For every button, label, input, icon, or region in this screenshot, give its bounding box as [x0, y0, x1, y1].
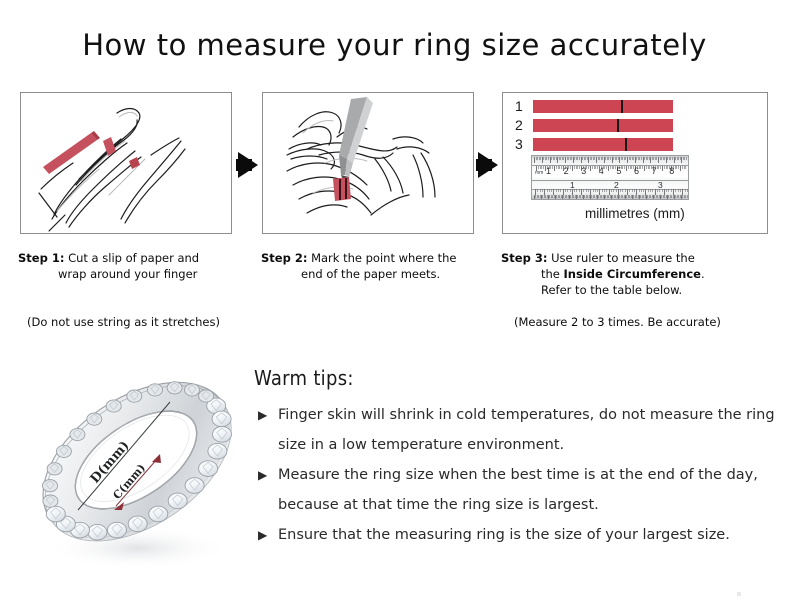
- step3-line2-pre: the: [541, 267, 564, 281]
- step3-line1: Use ruler to measure the: [551, 251, 695, 265]
- bullet-triangle-icon: ▶: [258, 520, 267, 550]
- step1-line2: wrap around your finger: [18, 266, 248, 282]
- ruler-caption: millimetres (mm): [585, 206, 685, 221]
- step2-illustration-panel: [262, 92, 474, 234]
- gemstone: [43, 495, 58, 507]
- gemstone: [88, 524, 107, 540]
- step1-illustration-panel: [20, 92, 232, 234]
- ring-size-guide-page: How to measure your ring size accurately: [0, 0, 789, 606]
- metal-ruler: 12345678 mm 123: [531, 155, 689, 200]
- ring-diagram: D(mm) C(mm): [18, 352, 254, 584]
- ruler-bottom-tick-band: [532, 195, 688, 200]
- ruler-mm-unit-label: mm: [535, 170, 543, 176]
- ruler-cm-number: 7: [652, 167, 657, 176]
- step3-caption: Step 3: Use ruler to measure the the Ins…: [501, 250, 771, 298]
- step3-line2: the Inside Circumference.: [501, 266, 771, 282]
- step2-caption: Step 2: Mark the point where the end of …: [261, 250, 491, 282]
- strip-number-2: 2: [515, 118, 523, 132]
- hand-with-paper-slip-illustration: [21, 93, 231, 233]
- gemstone: [108, 522, 127, 538]
- paper-band-on-finger: [333, 177, 351, 201]
- ruler-cm-number: 6: [634, 167, 639, 176]
- strip-number-1: 1: [515, 99, 523, 113]
- ruler-cm-number: 3: [581, 167, 586, 176]
- step2-label: Step 2:: [261, 251, 307, 265]
- warm-tip-item: ▶Measure the ring size when the best tim…: [256, 460, 776, 520]
- gemstone: [213, 427, 232, 443]
- ruler-cm-tick-band: [532, 166, 688, 171]
- step2-line2: end of the paper meets.: [261, 266, 491, 282]
- ruler-cm-number: 1: [546, 167, 551, 176]
- warm-tip-item: ▶Finger skin will shrink in cold tempera…: [256, 400, 776, 460]
- step3-label: Step 3:: [501, 251, 547, 265]
- gemstone: [199, 461, 218, 477]
- step1-note: (Do not use string as it stretches): [27, 315, 220, 329]
- gemstone: [43, 480, 58, 492]
- gemstone: [168, 493, 187, 509]
- paper-strip-1: [533, 100, 673, 113]
- ruler-cm-number: 4: [599, 167, 604, 176]
- gemstone: [185, 384, 200, 396]
- gemstone: [185, 478, 204, 494]
- ruler-top-tick-band: [532, 157, 688, 164]
- gemstone: [47, 463, 62, 475]
- gemstone: [208, 443, 227, 459]
- gemstone: [128, 516, 147, 532]
- warm-tips-list: ▶Finger skin will shrink in cold tempera…: [256, 400, 776, 550]
- warm-tip-text: Measure the ring size when the best time…: [278, 467, 758, 513]
- paper-strip-3: [533, 138, 673, 151]
- hand-marking-paper-illustration: [263, 93, 473, 233]
- warm-tip-item: ▶Ensure that the measuring ring is the s…: [256, 520, 776, 550]
- gemstone: [70, 428, 85, 440]
- strip-3-mark: [625, 138, 627, 151]
- inside-circumference-emphasis: Inside Circumference: [564, 267, 701, 281]
- strip-number-3: 3: [515, 137, 523, 151]
- step1-line1: Cut a slip of paper and: [68, 251, 199, 265]
- warm-tip-text: Finger skin will shrink in cold temperat…: [278, 407, 775, 453]
- warm-tip-text: Ensure that the measuring ring is the si…: [278, 527, 730, 543]
- warm-tips-heading: Warm tips:: [254, 366, 354, 390]
- ruler-cm-number: 2: [564, 167, 569, 176]
- step1-label: Step 1:: [18, 251, 64, 265]
- step1-caption: Step 1: Cut a slip of paper and wrap aro…: [18, 250, 248, 282]
- step2-line1: Mark the point where the: [311, 251, 456, 265]
- ruler-cm-number: 8: [669, 167, 674, 176]
- step3-line2-post: .: [701, 267, 705, 281]
- bullet-triangle-icon: ▶: [258, 400, 267, 430]
- paper-strip-2: [533, 119, 673, 132]
- gemstone: [149, 506, 168, 522]
- bullet-triangle-icon: ▶: [258, 460, 267, 490]
- arrow-step1-to-step2: [238, 152, 258, 178]
- arrow-step2-to-step3: [478, 152, 498, 178]
- ruler-cm-number: 5: [616, 167, 621, 176]
- step3-line3: Refer to the table below.: [501, 282, 771, 298]
- step3-ruler-panel: 1 2 3 12345678 mm 123: [502, 92, 768, 234]
- image-artifact: [737, 592, 741, 596]
- page-title: How to measure your ring size accurately: [0, 28, 789, 62]
- strip-1-mark: [621, 100, 623, 113]
- gemstone: [56, 445, 71, 457]
- step3-note: (Measure 2 to 3 times. Be accurate): [514, 315, 721, 329]
- gemstone: [46, 506, 65, 522]
- pen: [339, 97, 373, 185]
- eternity-ring-illustration: D(mm) C(mm): [18, 352, 254, 584]
- strip-2-mark: [617, 119, 619, 132]
- gemstone: [87, 413, 102, 425]
- gemstone: [212, 411, 231, 427]
